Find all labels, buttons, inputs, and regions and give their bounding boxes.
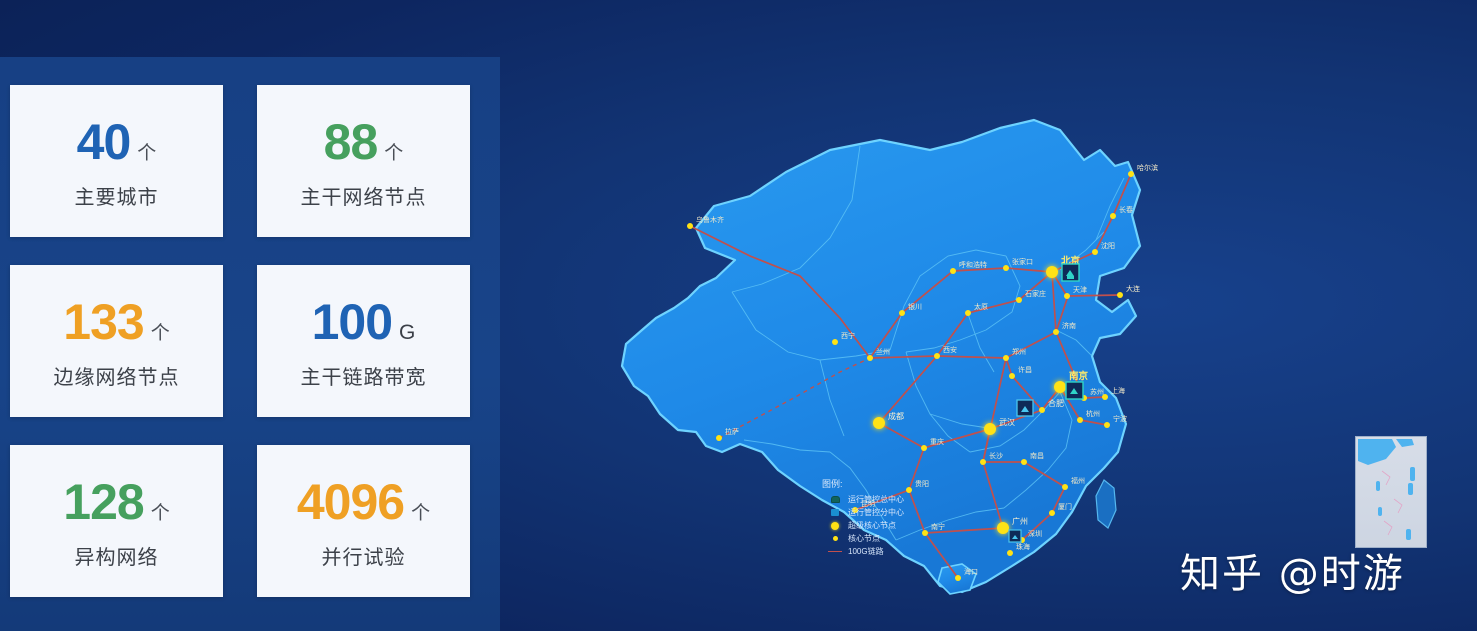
city-label: 石家庄 bbox=[1025, 289, 1046, 298]
legend-item: 运行管控总中心 bbox=[822, 494, 904, 505]
stat-card[interactable]: 4096 个 并行试验 bbox=[257, 445, 470, 597]
core-node-marker[interactable] bbox=[1064, 293, 1070, 299]
stat-unit: G bbox=[399, 321, 415, 345]
stat-value: 88 bbox=[324, 117, 378, 167]
legend-label: 核心节点 bbox=[848, 535, 880, 543]
city-label: 天津 bbox=[1073, 286, 1087, 294]
legend-label: 100G链路 bbox=[848, 548, 884, 556]
stat-label: 并行试验 bbox=[322, 541, 406, 570]
core-node-marker[interactable] bbox=[906, 487, 912, 493]
city-label: 拉萨 bbox=[725, 427, 739, 436]
core-node-marker[interactable] bbox=[1128, 171, 1134, 177]
city-label: 上海 bbox=[1111, 386, 1125, 395]
core-node-marker[interactable] bbox=[1062, 484, 1068, 490]
stats-grid: 40 个 主要城市 88 个 主干网络节点 133 个 边缘网络节点 bbox=[10, 85, 470, 597]
legend-title: 图例: bbox=[822, 480, 904, 489]
stat-value-row: 4096 个 bbox=[297, 477, 430, 527]
sub-center-icon bbox=[822, 509, 848, 516]
stat-unit: 个 bbox=[411, 498, 430, 525]
city-label: 南昌 bbox=[1030, 451, 1044, 460]
city-label: 太原 bbox=[974, 302, 988, 311]
legend-item: 超级核心节点 bbox=[822, 520, 904, 531]
stat-value: 128 bbox=[63, 477, 143, 527]
city-label: 大连 bbox=[1126, 284, 1140, 293]
city-label: 厦门 bbox=[1058, 502, 1072, 511]
core-node-marker[interactable] bbox=[867, 355, 873, 361]
stat-label: 主要城市 bbox=[75, 181, 159, 210]
stat-card[interactable]: 100 G 主干链路带宽 bbox=[257, 265, 470, 417]
city-label: 南京 bbox=[1069, 370, 1089, 382]
city-label: 海口 bbox=[964, 567, 978, 576]
legend-label: 超级核心节点 bbox=[848, 522, 896, 530]
city-label: 杭州 bbox=[1086, 409, 1100, 418]
core-node-marker[interactable] bbox=[1016, 297, 1022, 303]
city-label: 张家口 bbox=[1012, 257, 1033, 266]
stat-unit: 个 bbox=[151, 498, 170, 525]
core-node-marker[interactable] bbox=[1007, 550, 1013, 556]
city-label: 许昌 bbox=[1018, 365, 1032, 374]
cloud-center-icon bbox=[822, 496, 848, 503]
core-node-marker[interactable] bbox=[716, 435, 722, 441]
city-label: 成都 bbox=[888, 411, 904, 421]
china-network-map[interactable]: 乌鲁木齐拉萨西宁兰州银川呼和浩特张家口北京天津大连沈阳长春哈尔滨石家庄太原济南西… bbox=[500, 0, 1477, 631]
stat-value-row: 40 个 bbox=[77, 117, 157, 167]
core-node-marker[interactable] bbox=[1049, 510, 1055, 516]
stat-value-row: 100 G bbox=[312, 297, 416, 347]
city-label: 南宁 bbox=[931, 522, 945, 531]
core-node-marker[interactable] bbox=[899, 310, 905, 316]
city-label: 武汉 bbox=[999, 417, 1015, 427]
core-node-marker[interactable] bbox=[1092, 249, 1098, 255]
stats-panel: 40 个 主要城市 88 个 主干网络节点 133 个 边缘网络节点 bbox=[0, 57, 500, 631]
super-node-icon bbox=[822, 522, 848, 530]
legend-item: 核心节点 bbox=[822, 533, 904, 544]
super-node-marker[interactable] bbox=[984, 423, 996, 435]
stat-label: 异构网络 bbox=[75, 541, 159, 570]
link-line-icon bbox=[822, 551, 848, 552]
core-node-marker[interactable] bbox=[921, 445, 927, 451]
core-node-marker[interactable] bbox=[1117, 292, 1123, 298]
core-node-marker[interactable] bbox=[980, 459, 986, 465]
core-node-marker[interactable] bbox=[1009, 373, 1015, 379]
core-node-marker[interactable] bbox=[934, 353, 940, 359]
stat-label: 边缘网络节点 bbox=[54, 361, 180, 390]
core-node-marker[interactable] bbox=[950, 268, 956, 274]
stat-card[interactable]: 128 个 异构网络 bbox=[10, 445, 223, 597]
city-label: 西安 bbox=[943, 345, 957, 354]
stat-card[interactable]: 40 个 主要城市 bbox=[10, 85, 223, 237]
super-node-marker[interactable] bbox=[1054, 381, 1066, 393]
core-node-marker[interactable] bbox=[687, 223, 693, 229]
city-label: 贵阳 bbox=[915, 479, 929, 488]
stat-value: 133 bbox=[63, 297, 143, 347]
stat-value-row: 88 个 bbox=[324, 117, 404, 167]
legend-item: 运行管控分中心 bbox=[822, 507, 904, 518]
core-node-marker[interactable] bbox=[1021, 459, 1027, 465]
super-node-marker[interactable] bbox=[997, 522, 1009, 534]
core-node-marker[interactable] bbox=[955, 575, 961, 581]
city-label: 长沙 bbox=[989, 451, 1003, 460]
super-node-marker[interactable] bbox=[873, 417, 885, 429]
core-node-marker[interactable] bbox=[1104, 422, 1110, 428]
city-label: 呼和浩特 bbox=[959, 260, 987, 269]
stat-label: 主干网络节点 bbox=[301, 181, 427, 210]
city-label: 宁波 bbox=[1113, 414, 1127, 423]
stat-unit: 个 bbox=[384, 138, 403, 165]
map-legend: 图例: 运行管控总中心 运行管控分中心 超级核心节点 核心节点 100G链路 bbox=[822, 480, 904, 559]
city-label: 合肥 bbox=[1048, 398, 1064, 408]
city-label: 乌鲁木齐 bbox=[696, 215, 724, 224]
stat-card[interactable]: 88 个 主干网络节点 bbox=[257, 85, 470, 237]
city-label: 珠海 bbox=[1016, 542, 1030, 551]
core-node-marker[interactable] bbox=[965, 310, 971, 316]
legend-label: 运行管控总中心 bbox=[848, 496, 904, 504]
core-node-marker[interactable] bbox=[1077, 417, 1083, 423]
core-node-marker[interactable] bbox=[922, 530, 928, 536]
super-node-marker[interactable] bbox=[1046, 266, 1058, 278]
legend-item: 100G链路 bbox=[822, 546, 904, 557]
page-root: 40 个 主要城市 88 个 主干网络节点 133 个 边缘网络节点 bbox=[0, 0, 1477, 631]
city-label: 哈尔滨 bbox=[1137, 163, 1158, 172]
core-node-marker[interactable] bbox=[1110, 213, 1116, 219]
core-node-marker[interactable] bbox=[1053, 329, 1059, 335]
map-svg: 乌鲁木齐拉萨西宁兰州银川呼和浩特张家口北京天津大连沈阳长春哈尔滨石家庄太原济南西… bbox=[500, 0, 1477, 631]
stat-card[interactable]: 133 个 边缘网络节点 bbox=[10, 265, 223, 417]
core-node-marker[interactable] bbox=[1003, 355, 1009, 361]
core-node-icon bbox=[822, 536, 848, 541]
city-label: 深圳 bbox=[1028, 529, 1042, 538]
stat-unit: 个 bbox=[137, 138, 156, 165]
city-label: 广州 bbox=[1012, 516, 1028, 526]
core-node-marker[interactable] bbox=[1003, 265, 1009, 271]
city-label: 沈阳 bbox=[1101, 241, 1115, 250]
city-label: 福州 bbox=[1071, 476, 1085, 485]
legend-label: 运行管控分中心 bbox=[848, 509, 904, 517]
south-china-sea-inset bbox=[1355, 436, 1427, 548]
stat-value: 4096 bbox=[297, 477, 404, 527]
stat-value-row: 133 个 bbox=[63, 297, 169, 347]
city-label: 兰州 bbox=[876, 347, 890, 356]
city-label: 苏州 bbox=[1090, 387, 1104, 396]
stat-value: 100 bbox=[312, 297, 392, 347]
watermark: 知乎 @时游 bbox=[1180, 541, 1405, 599]
core-node-marker[interactable] bbox=[1039, 407, 1045, 413]
stat-value-row: 128 个 bbox=[63, 477, 169, 527]
stat-label: 主干链路带宽 bbox=[301, 361, 427, 390]
city-label: 重庆 bbox=[930, 437, 944, 446]
city-label: 济南 bbox=[1062, 321, 1076, 330]
city-label: 西宁 bbox=[841, 331, 855, 340]
city-label: 郑州 bbox=[1012, 348, 1026, 356]
stat-unit: 个 bbox=[151, 318, 170, 345]
city-label: 长春 bbox=[1119, 205, 1133, 214]
city-label: 银川 bbox=[908, 302, 922, 311]
stat-value: 40 bbox=[77, 117, 131, 167]
core-node-marker[interactable] bbox=[832, 339, 838, 345]
